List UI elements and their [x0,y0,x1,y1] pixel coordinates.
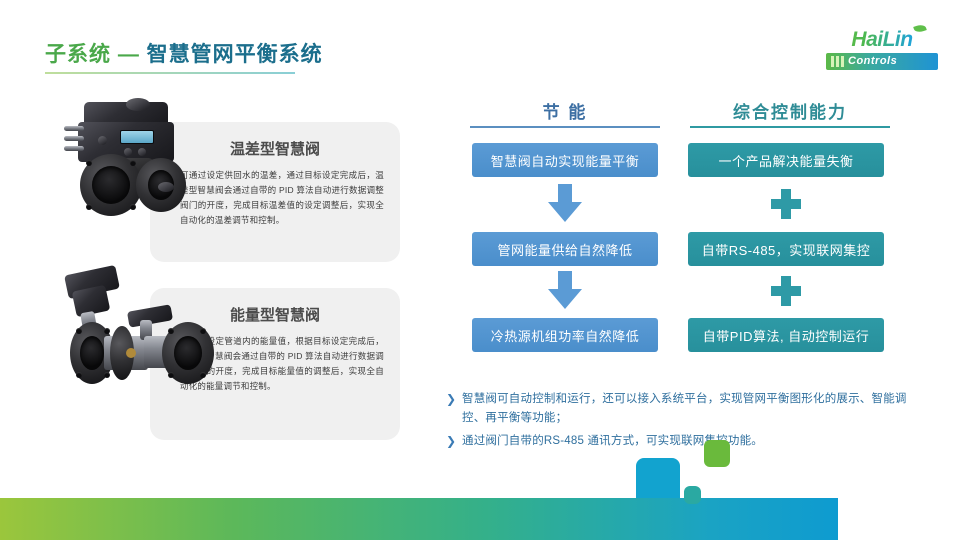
page-title: 子系统 — 智慧管网平衡系统 [45,38,323,68]
footer-gradient-bar [0,498,838,540]
energy-step-1[interactable]: 智慧阀自动实现能量平衡 [472,143,658,177]
control-step-2[interactable]: 自带RS-485，实现联网集控 [688,232,884,266]
list-item: ❯ 通过阀门自带的RS-485 通讯方式，可实现联网集控功能。 [446,432,916,451]
slide-canvas: 子系统 — 智慧管网平衡系统 HaiLin Controls 温差型智慧阀 可通… [0,0,960,540]
logo-banner: Controls [826,53,938,70]
logo-subtext: Controls [848,56,897,67]
chevron-right-icon: ❯ [446,390,462,408]
logo-stripes-icon [831,56,844,67]
bullet-list: ❯ 智慧阀可自动控制和运行，还可以接入系统平台，实现管网平衡图形化的展示、智能调… [446,390,916,455]
control-step-3[interactable]: 自带PID算法, 自动控制运行 [688,318,884,352]
column-heading-control: 综合控制能力 [690,98,890,123]
leaf-icon [913,23,927,33]
logo-wordmark: HaiLin [822,28,942,52]
plus-icon [771,189,801,219]
page-title-prefix: 子系统 — [45,43,147,66]
decorative-square-green [704,440,730,467]
energy-step-3[interactable]: 冷热源机组功率自然降低 [472,318,658,352]
column-heading-energy: 节 能 [470,98,660,123]
page-title-main: 智慧管网平衡系统 [147,43,323,66]
control-step-1[interactable]: 一个产品解决能量失衡 [688,143,884,177]
bullet-text: 智慧阀可自动控制和运行，还可以接入系统平台，实现管网平衡图形化的展示、智能调控、… [462,390,916,428]
plus-icon [771,276,801,306]
logo-word-text: HaiLin [851,28,912,51]
energy-smart-valve-photo [52,262,218,390]
temperature-smart-valve-photo [62,96,212,224]
arrow-down-icon [548,271,582,311]
column-underline-energy [470,126,660,128]
energy-step-2[interactable]: 管网能量供给自然降低 [472,232,658,266]
column-underline-control [690,126,890,128]
title-underline [45,72,295,74]
brand-logo: HaiLin Controls [822,28,942,74]
arrow-down-icon [548,184,582,224]
chevron-right-icon: ❯ [446,432,462,450]
decorative-square-cyan [636,458,680,498]
decorative-square-teal [684,486,701,504]
list-item: ❯ 智慧阀可自动控制和运行，还可以接入系统平台，实现管网平衡图形化的展示、智能调… [446,390,916,428]
